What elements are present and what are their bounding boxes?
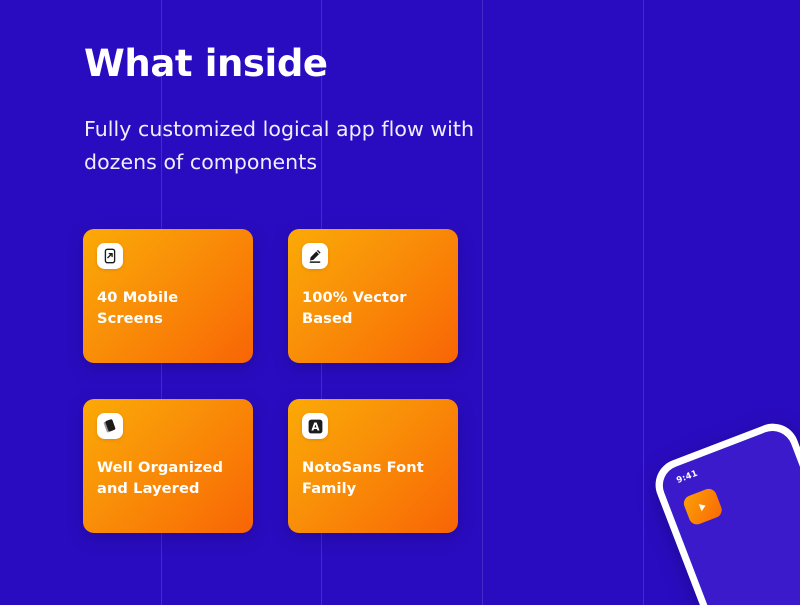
feature-card-label: NotoSans Font Family xyxy=(302,439,444,499)
phone-mockup: 9:41 xyxy=(648,416,800,605)
app-tile-icon xyxy=(682,487,724,527)
grid-line xyxy=(643,0,644,605)
feature-card-font-family[interactable]: A NotoSans Font Family xyxy=(288,399,458,533)
feature-card-grid: 40 Mobile Screens 100% Vector Based xyxy=(83,229,458,533)
feature-card-label: 40 Mobile Screens xyxy=(97,269,239,329)
header-block: What inside Fully customized logical app… xyxy=(84,44,554,179)
layers-stack-icon xyxy=(97,413,123,439)
slide-canvas: What inside Fully customized logical app… xyxy=(0,0,800,605)
font-letter-a-icon: A xyxy=(302,413,328,439)
phone-screen: 9:41 xyxy=(657,425,800,605)
svg-text:A: A xyxy=(311,421,320,433)
page-title: What inside xyxy=(84,44,554,84)
mobile-screen-icon xyxy=(97,243,123,269)
phone-status-time: 9:41 xyxy=(675,469,699,486)
feature-card-label: 100% Vector Based xyxy=(302,269,444,329)
page-subtitle: Fully customized logical app flow with d… xyxy=(84,84,504,179)
pencil-edit-icon xyxy=(302,243,328,269)
feature-card-well-organized[interactable]: Well Organized and Layered xyxy=(83,399,253,533)
feature-card-vector-based[interactable]: 100% Vector Based xyxy=(288,229,458,363)
feature-card-label: Well Organized and Layered xyxy=(97,439,239,499)
feature-card-mobile-screens[interactable]: 40 Mobile Screens xyxy=(83,229,253,363)
